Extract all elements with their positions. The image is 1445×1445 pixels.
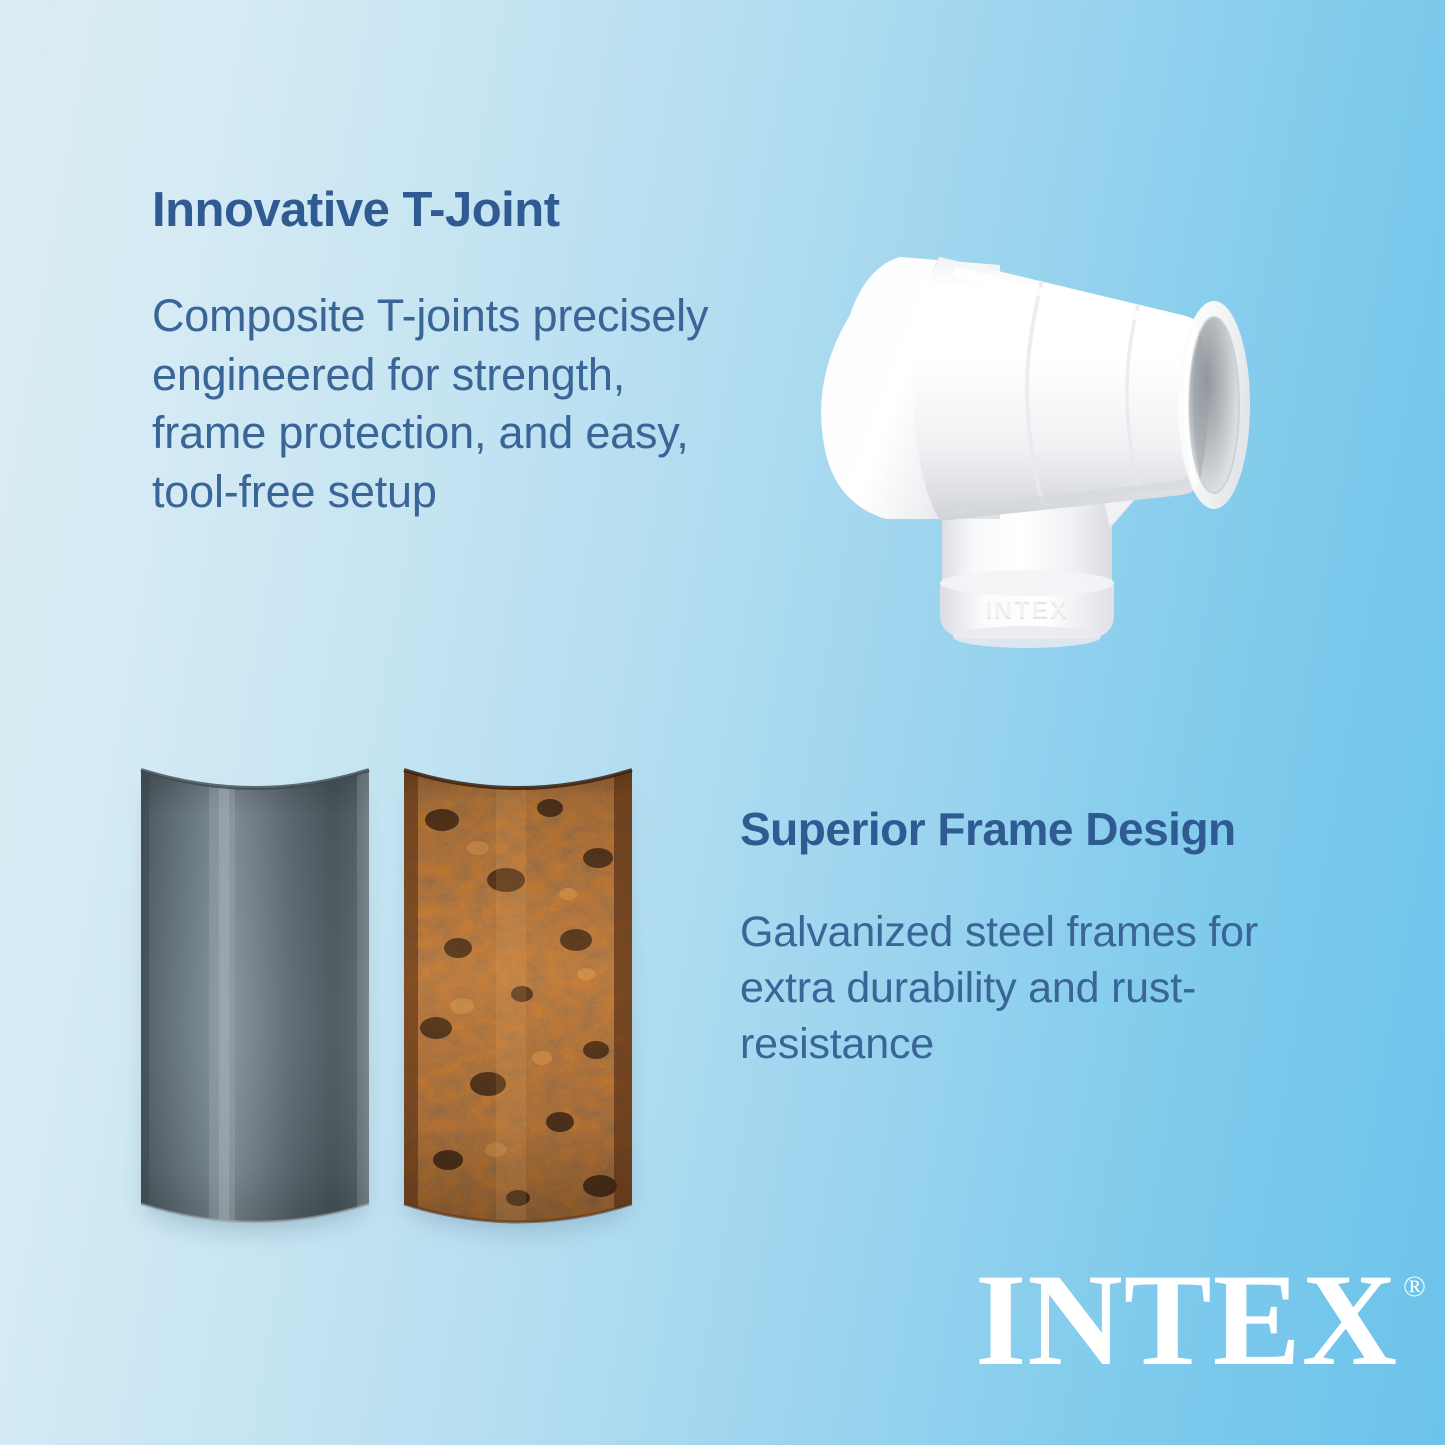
feature-body-t-joint: Composite T-joints precisely engineered …: [152, 287, 712, 521]
pipe-rusted-steel: [400, 762, 636, 1230]
infographic-canvas: Innovative T-Joint Composite T-joints pr…: [0, 0, 1445, 1445]
feature-body-frame-design: Galvanized steel frames for extra durabi…: [740, 905, 1360, 1073]
feature-block-frame-design: Superior Frame Design Galvanized steel f…: [740, 806, 1360, 1073]
svg-text:INTEX: INTEX: [985, 595, 1069, 623]
intex-logo-wordmark: INTEX: [975, 1262, 1398, 1378]
feature-heading-t-joint: Innovative T-Joint: [152, 186, 712, 235]
registered-trademark-icon: ®: [1403, 1272, 1426, 1302]
feature-heading-frame-design: Superior Frame Design: [740, 806, 1360, 852]
feature-block-t-joint: Innovative T-Joint Composite T-joints pr…: [152, 186, 712, 521]
intex-logo: INTEX ®: [975, 1262, 1426, 1378]
t-joint-product-image: INTEX INTEX: [790, 145, 1300, 655]
pipe-galvanized-steel: [137, 762, 373, 1230]
